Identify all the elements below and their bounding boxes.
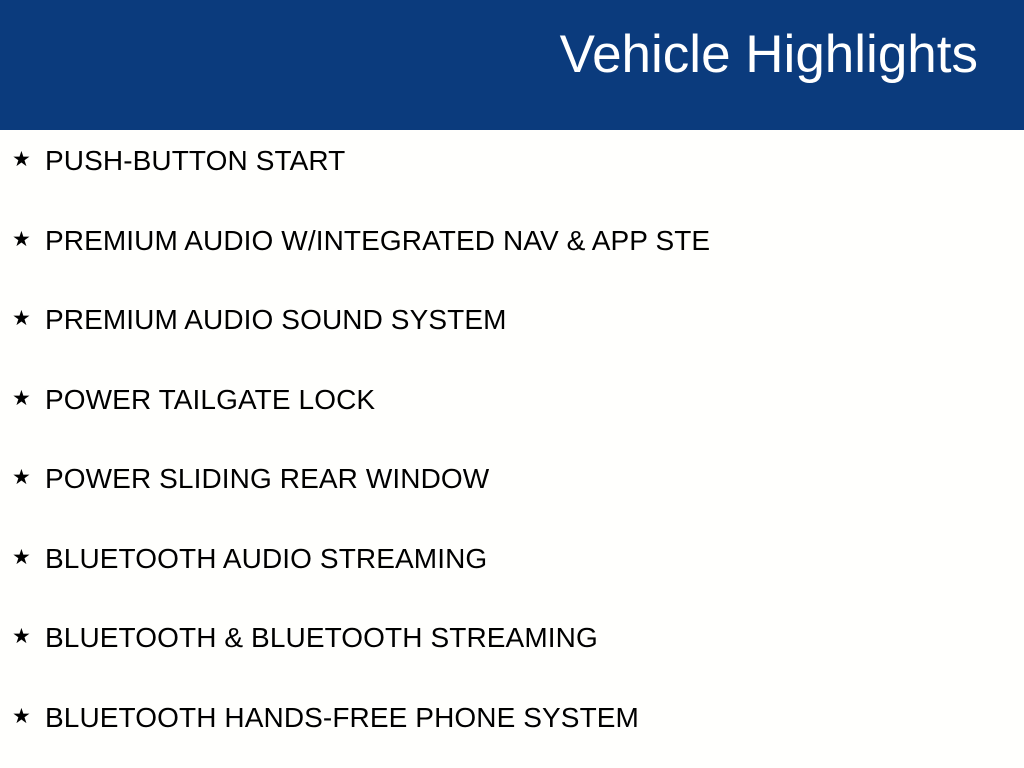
list-item: ★ PUSH-BUTTON START [0,130,1024,210]
header-band: Vehicle Highlights [0,0,1024,130]
list-item: ★ PREMIUM AUDIO SOUND SYSTEM [0,289,1024,369]
star-bullet-icon: ★ [12,386,30,410]
list-item: ★ POWER SLIDING REAR WINDOW [0,448,1024,528]
star-bullet-icon: ★ [12,227,30,251]
list-item: ★ BLUETOOTH HANDS-FREE PHONE SYSTEM [0,687,1024,767]
star-bullet-icon: ★ [12,465,30,489]
list-item-label: PREMIUM AUDIO W/INTEGRATED NAV & APP STE [45,226,710,256]
list-item-label: POWER SLIDING REAR WINDOW [45,464,489,494]
vehicle-highlights-slide: Vehicle Highlights ★ PUSH-BUTTON START ★… [0,0,1024,768]
star-bullet-icon: ★ [12,624,30,648]
list-item-label: BLUETOOTH AUDIO STREAMING [45,544,487,574]
star-bullet-icon: ★ [12,306,30,330]
list-item: ★ BLUETOOTH AUDIO STREAMING [0,528,1024,608]
star-bullet-icon: ★ [12,545,30,569]
list-item-label: PUSH-BUTTON START [45,146,345,176]
list-item: ★ PREMIUM AUDIO W/INTEGRATED NAV & APP S… [0,210,1024,290]
list-item: ★ POWER TAILGATE LOCK [0,369,1024,449]
list-item-label: PREMIUM AUDIO SOUND SYSTEM [45,305,507,335]
star-bullet-icon: ★ [12,704,30,728]
star-bullet-icon: ★ [12,147,30,171]
list-item: ★ BLUETOOTH & BLUETOOTH STREAMING [0,607,1024,687]
page-title: Vehicle Highlights [560,28,978,82]
list-item-label: BLUETOOTH HANDS-FREE PHONE SYSTEM [45,703,639,733]
vehicle-highlights-list: ★ PUSH-BUTTON START ★ PREMIUM AUDIO W/IN… [0,130,1024,766]
list-item-label: POWER TAILGATE LOCK [45,385,375,415]
list-item-label: BLUETOOTH & BLUETOOTH STREAMING [45,623,598,653]
